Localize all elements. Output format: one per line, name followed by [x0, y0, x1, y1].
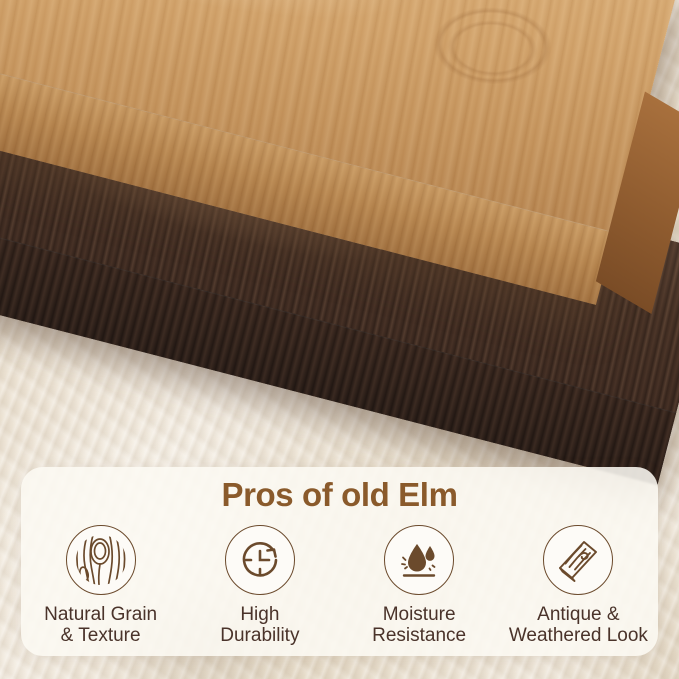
water-droplet-icon — [384, 525, 454, 595]
feature-label: Natural Grain & Texture — [44, 604, 157, 647]
product-image: Pros of old Elm — [0, 0, 679, 679]
feature-label: Moisture Resistance — [372, 604, 466, 647]
feature-label: High Durability — [220, 604, 299, 647]
clock-arrow-icon — [225, 525, 295, 595]
feature-moisture-resistance: Moisture Resistance — [340, 525, 499, 647]
wood-grain-swirl — [395, 0, 590, 115]
panel-title: Pros of old Elm — [21, 476, 658, 514]
wood-grain-icon — [66, 525, 136, 595]
wood-plank-icon — [543, 525, 613, 595]
feature-high-durability: High Durability — [180, 525, 339, 647]
feature-antique-look: Antique & Weathered Look — [499, 525, 658, 647]
feature-list: Natural Grain & Texture High Durability — [21, 525, 658, 647]
feature-label: Antique & Weathered Look — [509, 604, 648, 647]
feature-natural-grain: Natural Grain & Texture — [21, 525, 180, 647]
pros-panel: Pros of old Elm — [21, 467, 658, 656]
